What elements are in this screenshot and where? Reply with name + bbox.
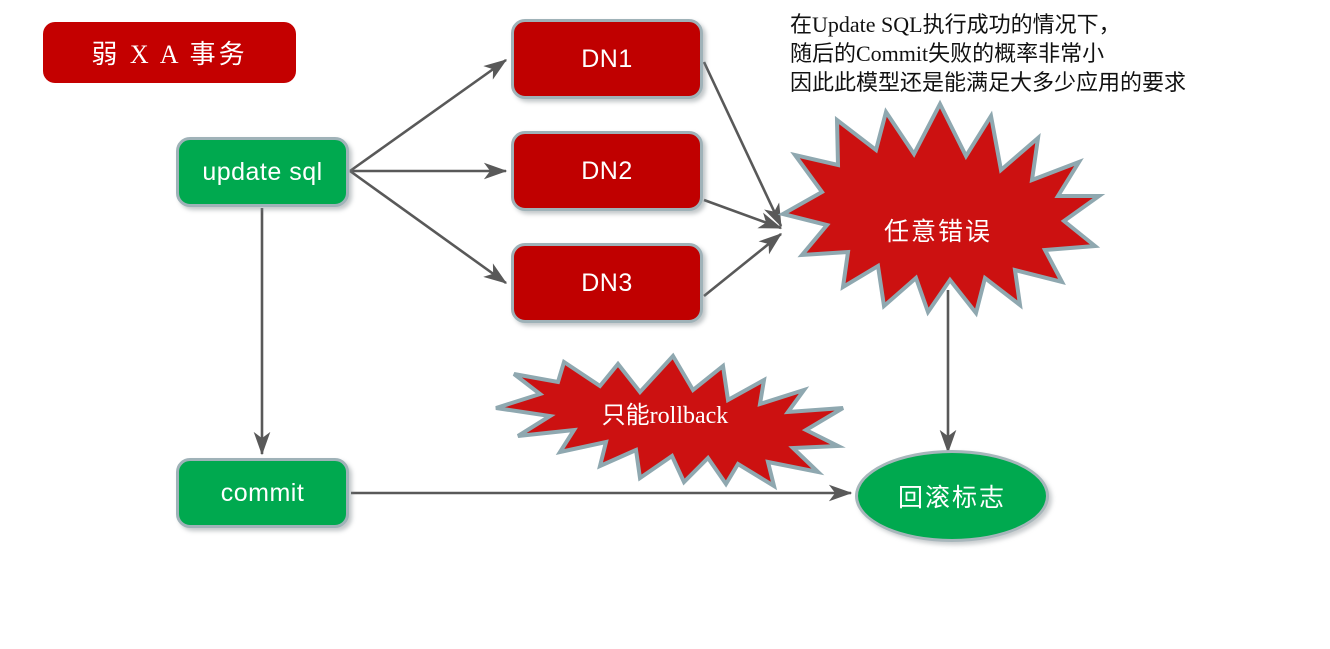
node-update-sql-label: update sql bbox=[202, 158, 322, 187]
node-dn2-label: DN2 bbox=[581, 157, 633, 186]
node-dn3-label: DN3 bbox=[581, 269, 633, 298]
explosion-shape-any-error bbox=[783, 104, 1099, 313]
edge-update-sql-to-dn3 bbox=[350, 171, 506, 283]
edge-dn3-to-any-error bbox=[704, 234, 781, 296]
annotation-line-2: 随后的Commit失败的概率非常小 bbox=[790, 39, 1186, 68]
diagram-canvas: 弱 X A 事务 在Update SQL执行成功的情况下， 随后的Commit失… bbox=[0, 0, 1330, 649]
title-badge: 弱 X A 事务 bbox=[43, 22, 296, 83]
node-only-rollback[interactable]: 只能rollback bbox=[488, 352, 846, 488]
title-badge-label: 弱 X A 事务 bbox=[91, 34, 247, 71]
edge-dn1-to-any-error bbox=[704, 62, 781, 226]
node-update-sql[interactable]: update sql bbox=[176, 137, 349, 207]
annotation-line-3: 因此此模型还是能满足大多少应用的要求 bbox=[790, 68, 1186, 97]
explosion-shape-only-rollback bbox=[496, 356, 843, 486]
edge-update-sql-to-dn1 bbox=[350, 60, 506, 171]
node-any-error[interactable]: 任意错误 bbox=[780, 100, 1100, 315]
node-dn3[interactable]: DN3 bbox=[511, 243, 703, 323]
node-dn1-label: DN1 bbox=[581, 45, 633, 74]
node-commit-label: commit bbox=[221, 479, 305, 508]
node-rollback-flag[interactable]: 回滚标志 bbox=[855, 450, 1049, 542]
node-dn1[interactable]: DN1 bbox=[511, 19, 703, 99]
annotation-line-1: 在Update SQL执行成功的情况下， bbox=[790, 10, 1186, 39]
node-dn2[interactable]: DN2 bbox=[511, 131, 703, 211]
node-commit[interactable]: commit bbox=[176, 458, 349, 528]
node-rollback-flag-label: 回滚标志 bbox=[898, 478, 1006, 514]
annotation-note: 在Update SQL执行成功的情况下， 随后的Commit失败的概率非常小 因… bbox=[790, 10, 1186, 97]
